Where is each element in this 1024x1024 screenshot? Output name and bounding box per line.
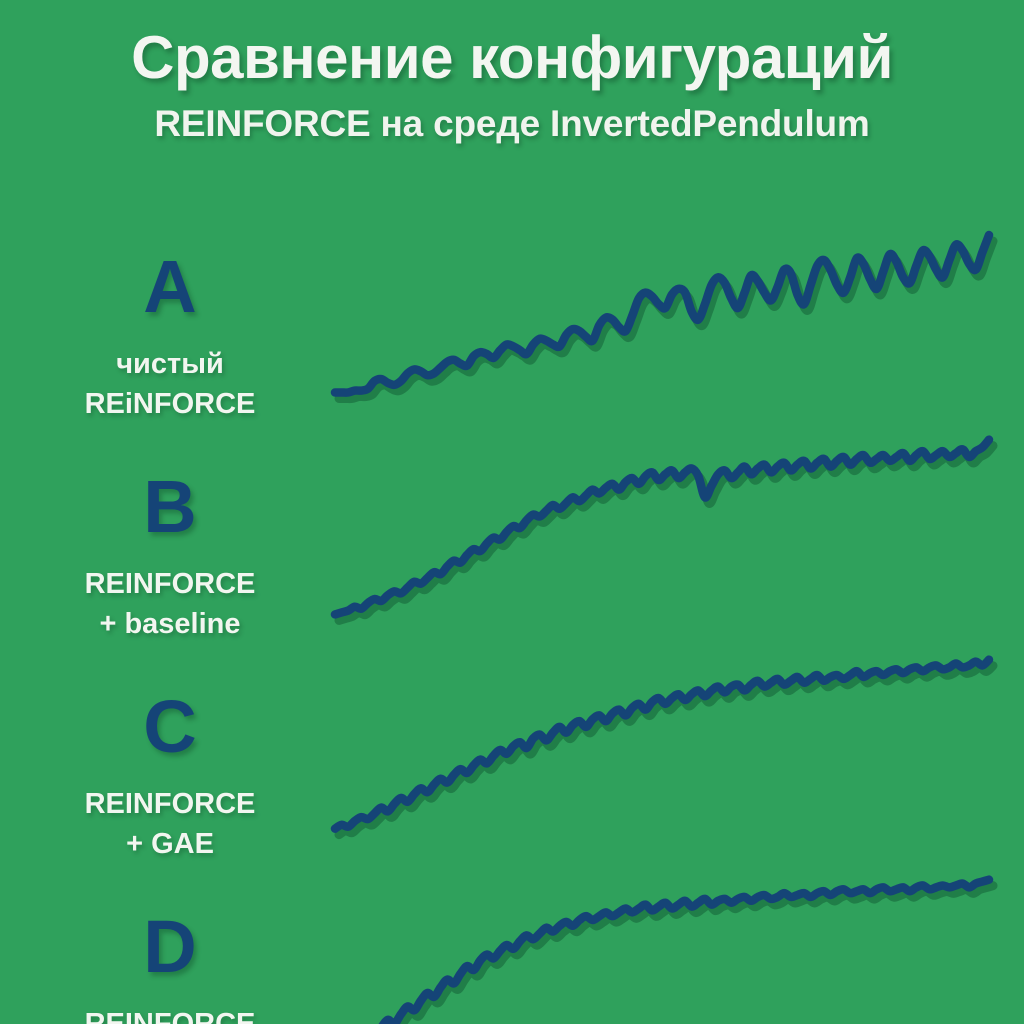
config-row-c: C REINFORCE + GAE bbox=[0, 638, 1024, 858]
config-caption-b: REINFORCE + baseline bbox=[20, 564, 320, 644]
sparkline-c bbox=[330, 638, 994, 858]
sparkline-c-svg bbox=[330, 638, 994, 858]
sparkline-a-svg bbox=[330, 198, 994, 418]
config-letter-c: C bbox=[20, 638, 320, 764]
config-row-b-labels: B REINFORCE + baseline bbox=[20, 418, 320, 638]
config-row-c-labels: C REINFORCE + GAE bbox=[20, 638, 320, 858]
config-caption-d-line1: REINFORCE bbox=[20, 1004, 320, 1024]
config-caption-b-line1: REINFORCE bbox=[20, 564, 320, 604]
config-caption-c: REINFORCE + GAE bbox=[20, 784, 320, 864]
config-caption-a-line1: чистый bbox=[20, 344, 320, 384]
config-row-d-labels: D REINFORCE bbox=[20, 858, 320, 1024]
config-letter-b: B bbox=[20, 418, 320, 544]
page-subtitle: REINFORCE на среде InvertedPendulum bbox=[0, 90, 1024, 145]
poster-header: Сравнение конфигураций REINFORCE на сред… bbox=[0, 0, 1024, 144]
config-row-a: A чистый REiNFORCE bbox=[0, 198, 1024, 418]
config-letter-d: D bbox=[20, 858, 320, 984]
config-row-d: D REINFORCE bbox=[0, 858, 1024, 1024]
config-caption-d: REINFORCE bbox=[20, 1004, 320, 1024]
config-caption-a: чистый REiNFORCE bbox=[20, 344, 320, 424]
sparkline-c-path bbox=[335, 660, 989, 829]
sparkline-b-svg bbox=[330, 418, 994, 638]
sparkline-b bbox=[330, 418, 994, 638]
sparkline-c-shadow bbox=[339, 666, 993, 835]
sparkline-d bbox=[330, 858, 994, 1024]
config-caption-c-line1: REINFORCE bbox=[20, 784, 320, 824]
poster-canvas: Сравнение конфигураций REINFORCE на сред… bbox=[0, 0, 1024, 1024]
config-row-a-labels: A чистый REiNFORCE bbox=[20, 198, 320, 418]
sparkline-a bbox=[330, 198, 994, 418]
page-title: Сравнение конфигураций bbox=[0, 0, 1024, 90]
sparkline-d-svg bbox=[330, 858, 994, 1024]
config-row-b: B REINFORCE + baseline bbox=[0, 418, 1024, 638]
config-letter-a: A bbox=[20, 198, 320, 324]
